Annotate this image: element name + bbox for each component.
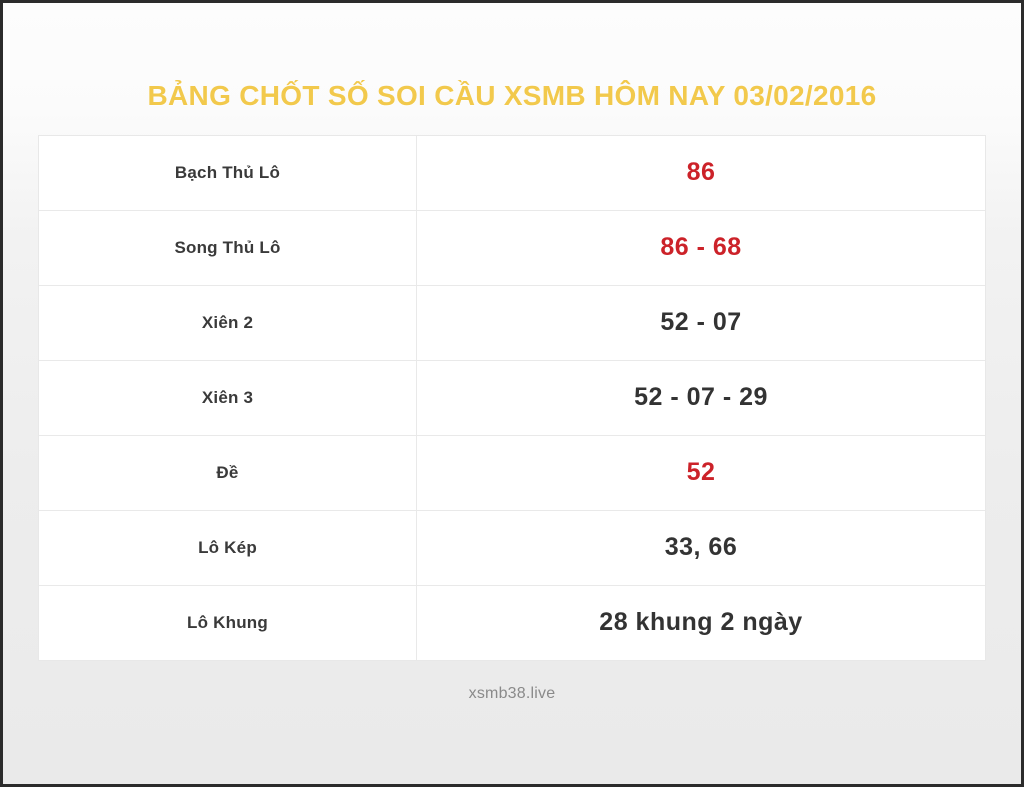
page-container: BẢNG CHỐT SỐ SOI CẦU XSMB HÔM NAY 03/02/…	[0, 0, 1024, 787]
table-row: Đề 52	[39, 436, 985, 511]
row-value: 52 - 07	[417, 286, 985, 360]
row-label: Bạch Thủ Lô	[39, 136, 417, 210]
table-row: Song Thủ Lô 86 - 68	[39, 211, 985, 286]
table-row: Lô Khung 28 khung 2 ngày	[39, 586, 985, 660]
row-label: Xiên 3	[39, 361, 417, 435]
row-value: 52 - 07 - 29	[417, 361, 985, 435]
table-row: Lô Kép 33, 66	[39, 511, 985, 586]
row-value: 33, 66	[417, 511, 985, 585]
row-label: Xiên 2	[39, 286, 417, 360]
row-label: Lô Kép	[39, 511, 417, 585]
row-value: 86	[417, 136, 985, 210]
table-row: Bạch Thủ Lô 86	[39, 136, 985, 211]
table-row: Xiên 3 52 - 07 - 29	[39, 361, 985, 436]
row-label: Đề	[39, 436, 417, 510]
row-label: Song Thủ Lô	[39, 211, 417, 285]
row-value: 52	[417, 436, 985, 510]
site-watermark: xsmb38.live	[469, 685, 556, 703]
row-label: Lô Khung	[39, 586, 417, 660]
row-value: 28 khung 2 ngày	[417, 586, 985, 660]
prediction-table: Bạch Thủ Lô 86 Song Thủ Lô 86 - 68 Xiên …	[38, 135, 986, 661]
page-title: BẢNG CHỐT SỐ SOI CẦU XSMB HÔM NAY 03/02/…	[148, 81, 877, 112]
row-value: 86 - 68	[417, 211, 985, 285]
table-row: Xiên 2 52 - 07	[39, 286, 985, 361]
